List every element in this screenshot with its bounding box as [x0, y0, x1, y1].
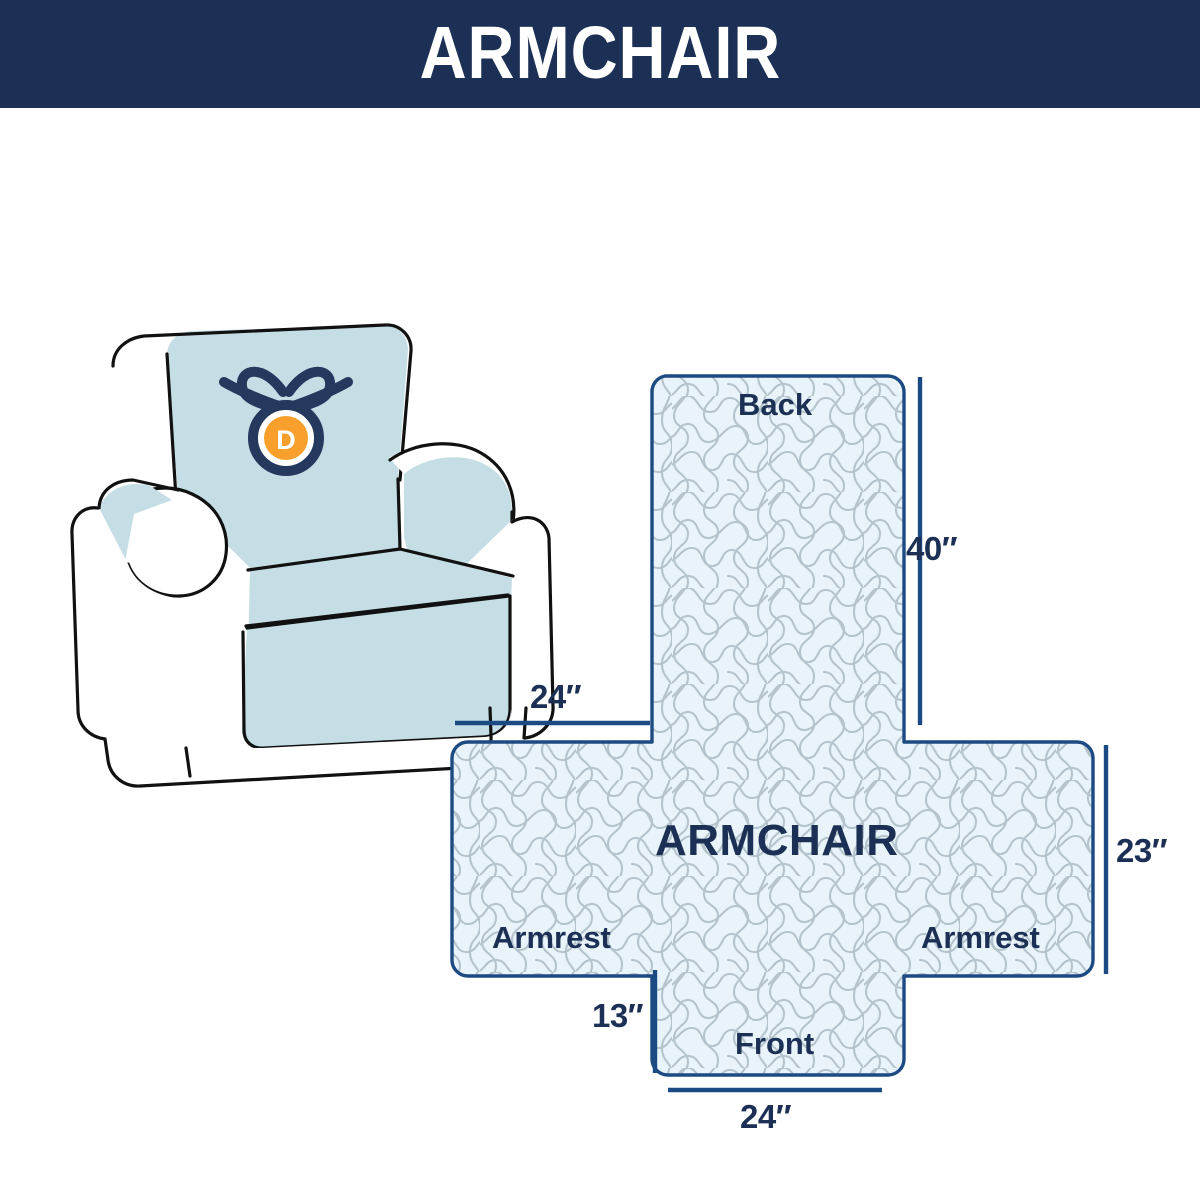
- dimension-label-13in: 13″: [592, 997, 643, 1035]
- dimension-label-23in: 23″: [1116, 832, 1167, 870]
- header-banner: ARMCHAIR: [0, 0, 1200, 108]
- panel-label-armrest-right: Armrest: [921, 920, 1040, 956]
- panel-label-armrest-left: Armrest: [492, 920, 611, 956]
- panel-label-back: Back: [738, 387, 812, 423]
- svg-text:D: D: [276, 425, 296, 455]
- dimension-label-24in-bottom: 24″: [740, 1098, 791, 1136]
- dimension-label-40in: 40″: [906, 530, 957, 568]
- diagram-canvas: D Back ARMCHAIR Armrest Armrest Front 40…: [0, 108, 1200, 1200]
- panel-label-front: Front: [735, 1026, 814, 1062]
- armchair-illustration: D: [0, 108, 1200, 1200]
- page-title: ARMCHAIR: [419, 16, 781, 90]
- dimension-label-24in-top: 24″: [530, 678, 581, 716]
- shape-label-armchair: ARMCHAIR: [655, 816, 899, 866]
